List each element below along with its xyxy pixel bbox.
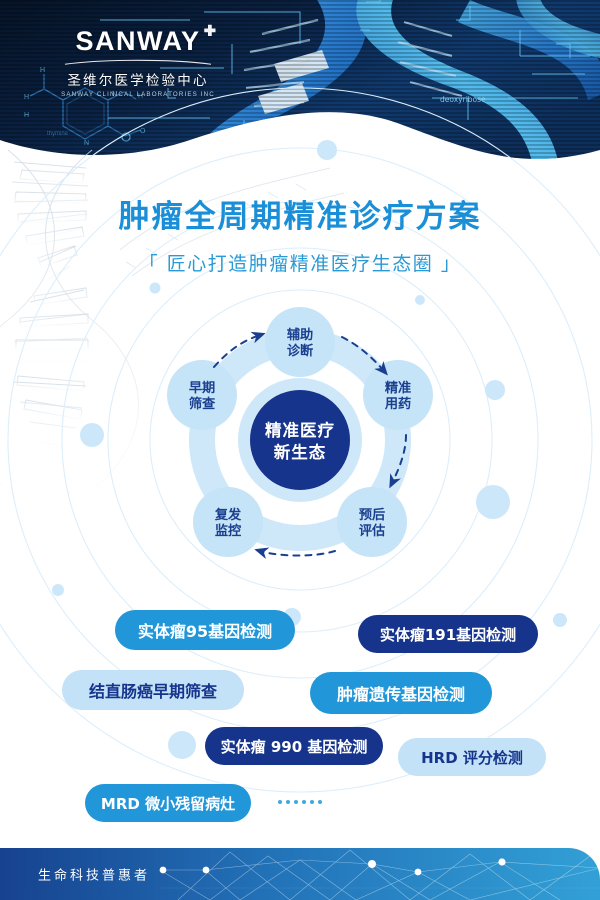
pill-label: 肿瘤遗传基因检测 xyxy=(337,681,465,705)
brand-name-cn: 圣维尔医学检验中心 xyxy=(48,73,228,90)
node-label-line2: 评估 xyxy=(359,522,385,539)
pill-label: 结直肠癌早期筛查 xyxy=(89,678,217,702)
pill-label: 实体瘤191基因检测 xyxy=(380,624,516,645)
brand-wordmark: SANWAY xyxy=(75,28,200,55)
pill-label: MRD 微小残留病灶 xyxy=(101,793,235,814)
pill-solid-tumor-990[interactable]: 实体瘤 990 基因检测 xyxy=(205,727,383,765)
pill-hereditary-tumor[interactable]: 肿瘤遗传基因检测 xyxy=(310,672,492,714)
medical-cross-icon xyxy=(202,24,217,39)
node-label-line1: 预后 xyxy=(359,506,385,523)
node-recurrence-monitoring[interactable]: 复发 监控 xyxy=(193,487,263,557)
node-label-line1: 精准 xyxy=(385,379,411,396)
poster-root: H H H H N N O thymine xyxy=(0,0,600,900)
pill-label: 实体瘤 990 基因检测 xyxy=(221,736,368,757)
pill-colorectal-screening[interactable]: 结直肠癌早期筛查 xyxy=(62,670,244,710)
node-label-line2: 监控 xyxy=(215,522,241,539)
ellipsis-dots xyxy=(278,800,322,804)
node-assisted-diagnosis[interactable]: 辅助 诊断 xyxy=(265,307,335,377)
node-early-screening[interactable]: 早期 筛查 xyxy=(167,360,237,430)
node-label-line2: 诊断 xyxy=(287,342,314,359)
node-prognosis-evaluation[interactable]: 预后 评估 xyxy=(337,487,407,557)
node-label-line2: 用药 xyxy=(385,395,411,412)
pill-mrd[interactable]: MRD 微小残留病灶 xyxy=(85,784,251,822)
pill-hrd-score[interactable]: HRD 评分检测 xyxy=(398,738,546,776)
node-label-line1: 复发 xyxy=(214,506,242,523)
pill-label: HRD 评分检测 xyxy=(421,747,523,768)
center-circle[interactable] xyxy=(250,390,350,490)
node-label-line2: 筛查 xyxy=(189,395,216,412)
title-block: 肿瘤全周期精准诊疗方案 「 匠心打造肿瘤精准医疗生态圈 」 xyxy=(0,200,600,276)
ecosystem-diagram: 精准医疗 新生态 辅助 诊断 精准 用药 预后 评估 复发 监控 早期 筛查 xyxy=(150,295,450,585)
center-label-line1: 精准医疗 xyxy=(265,420,335,440)
node-precision-medication[interactable]: 精准 用药 xyxy=(363,360,433,430)
pill-solid-tumor-95[interactable]: 实体瘤95基因检测 xyxy=(115,610,295,650)
logo-swoosh-divider xyxy=(63,59,213,66)
center-label-line2: 新生态 xyxy=(274,442,327,462)
node-label-line1: 早期 xyxy=(189,380,215,396)
pill-label: 实体瘤95基因检测 xyxy=(138,618,272,642)
node-label-line1: 辅助 xyxy=(287,326,313,343)
footer-slogan: 生命科技普惠者 xyxy=(38,865,150,884)
brand-logo: SANWAY 圣维尔医学检验中心 SANWAY CLINICAL LABORAT… xyxy=(48,28,228,98)
brand-name-en: SANWAY CLINICAL LABORATORIES INC xyxy=(48,91,228,98)
footer-bar: 生命科技普惠者 xyxy=(0,848,600,900)
page-title: 肿瘤全周期精准诊疗方案 xyxy=(0,200,600,236)
pill-solid-tumor-191[interactable]: 实体瘤191基因检测 xyxy=(358,615,538,653)
page-subtitle: 「 匠心打造肿瘤精准医疗生态圈 」 xyxy=(0,249,600,276)
